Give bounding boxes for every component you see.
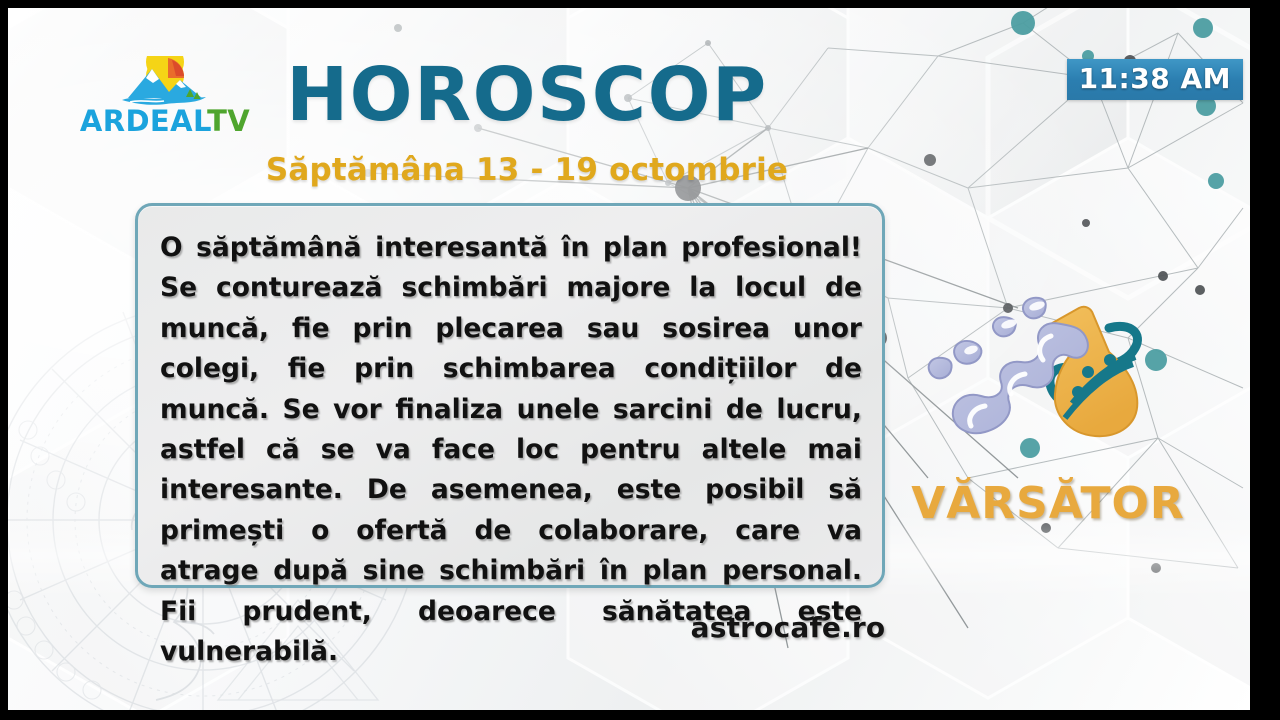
video-frame: ARDEALTV HOROSCOP Săptămâna 13 - 19 octo… xyxy=(8,8,1250,710)
zodiac-sign-name: VĂRSĂTOR xyxy=(888,478,1208,529)
aquarius-water-jug-icon xyxy=(913,286,1185,446)
channel-name-secondary: TV xyxy=(207,104,250,138)
source-credit: astrocafe.ro xyxy=(628,611,948,644)
date-range-subtitle: Săptămâna 13 - 19 octombrie xyxy=(262,152,792,188)
channel-logo: ARDEALTV xyxy=(76,56,254,144)
channel-name-primary: ARDEAL xyxy=(80,104,207,138)
page-title: HOROSCOP xyxy=(262,60,792,131)
channel-wordmark: ARDEALTV xyxy=(76,104,254,138)
horoscope-text-panel: O săptămână interesantă în plan profesio… xyxy=(135,203,885,588)
broadcast-screen: ARDEALTV HOROSCOP Săptămâna 13 - 19 octo… xyxy=(0,0,1280,720)
mountain-sun-logo-icon xyxy=(106,56,224,108)
clock-badge: 11:38 AM xyxy=(1067,59,1243,100)
horoscope-body-text: O săptămână interesantă în plan profesio… xyxy=(160,228,862,672)
